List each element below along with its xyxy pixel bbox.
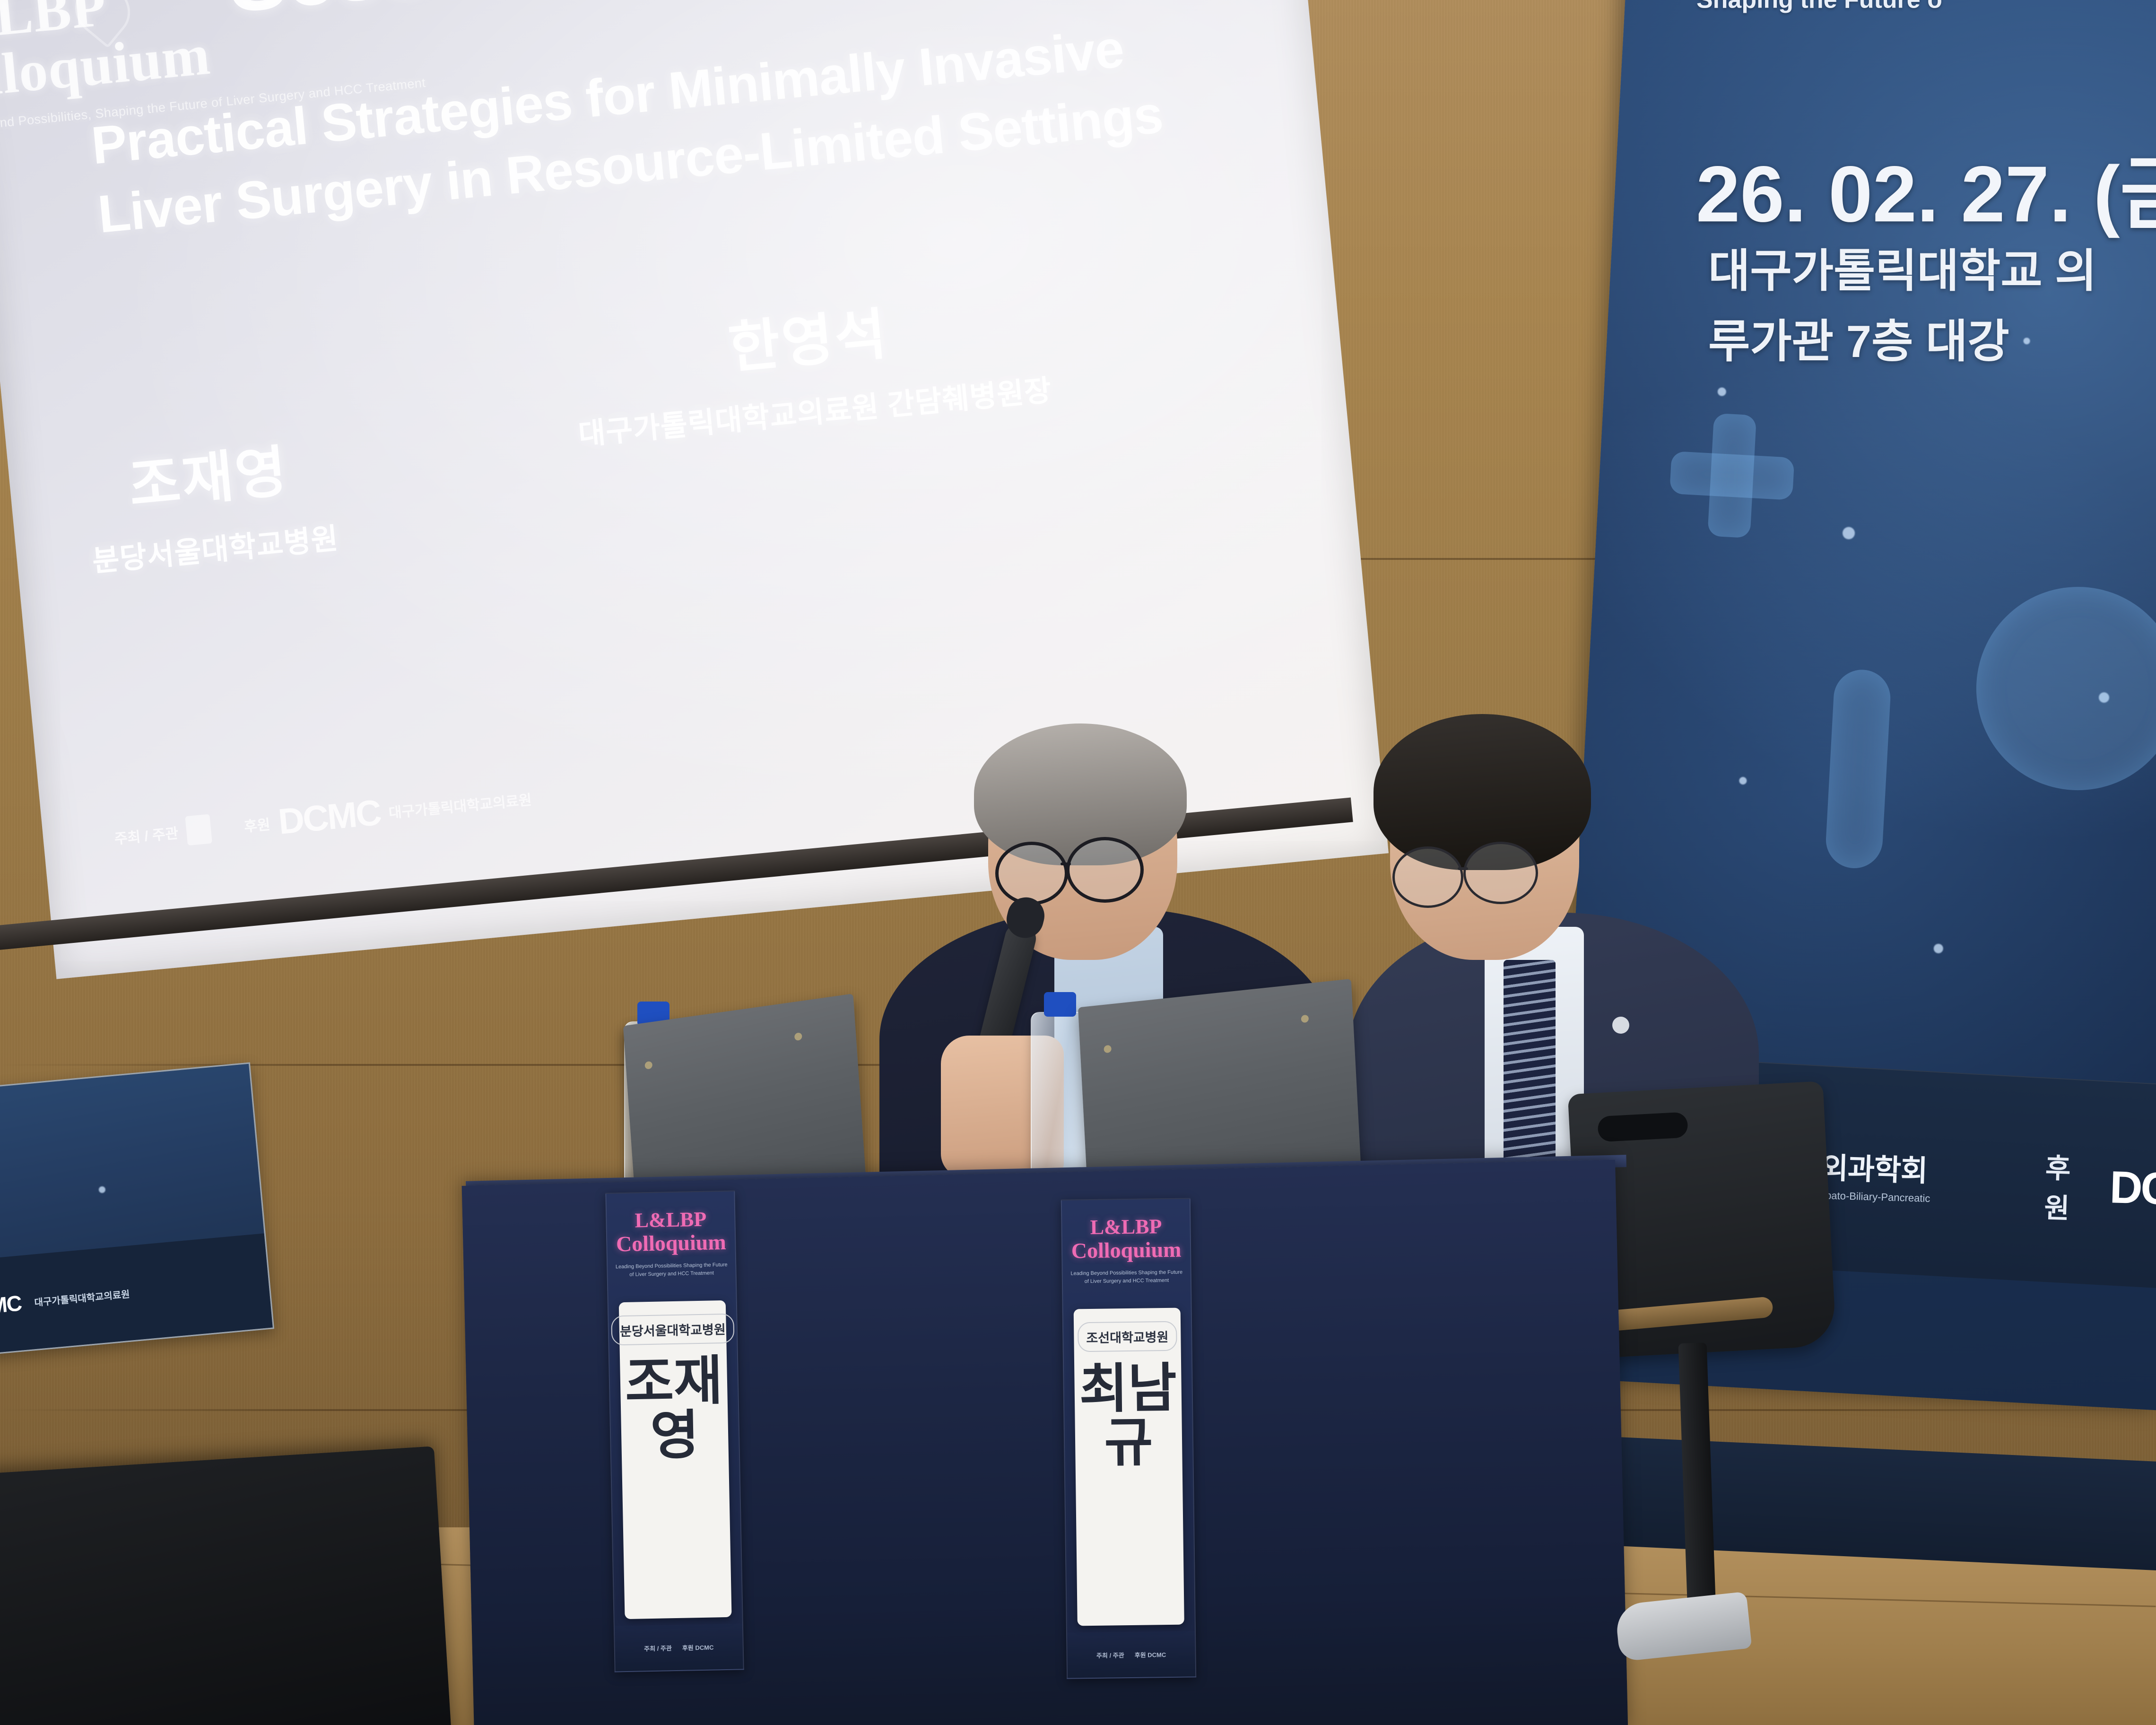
placard-2-footer: 주최 / 주관 후원 DCMC <box>1067 1631 1195 1678</box>
brain-icon <box>1971 582 2156 796</box>
syringe-icon <box>1825 668 1892 870</box>
laptop-screw <box>1104 1045 1112 1054</box>
slide-speaker-1-name: 조재영 <box>35 417 382 530</box>
placard-2-brand-subtitle: Leading Beyond Possibilities Shaping the… <box>1063 1269 1191 1286</box>
laptop-screw <box>644 1061 652 1070</box>
banner-venue-line1: 대구가톨릭대학교 의 <box>1708 236 2097 307</box>
chair-handle-slot <box>1597 1112 1688 1142</box>
placard-2-hospital: 조선대학교병원 <box>1078 1321 1177 1352</box>
placard-1-card: 분당서울대학교병원 조재영 <box>619 1300 732 1619</box>
stage-monitor <box>0 1446 454 1725</box>
slide-speaker-1: 조재영 분당서울대학교병원 <box>35 417 387 584</box>
star-dot <box>1842 527 1855 540</box>
star-dot <box>1933 943 1943 953</box>
bottle-cap <box>1044 992 1076 1017</box>
star-dot <box>1717 387 1726 396</box>
name-placard-2: L&LBP Colloquium Leading Beyond Possibil… <box>1061 1198 1196 1679</box>
glasses-icon <box>1463 842 1538 904</box>
placard-1-footer: 주최 / 주관 후원 DCMC <box>615 1623 743 1671</box>
placard-1-brand-subtitle: Leading Beyond Possibilities Shaping the… <box>608 1261 736 1279</box>
placard-2-card: 조선대학교병원 최남규 <box>1074 1308 1184 1626</box>
placard-2-brand-line1: L&LBP <box>1062 1215 1190 1239</box>
mini-banner: 후원 DCMC 대구가톨릭대학교의료원 <box>0 1062 274 1361</box>
slide-footer: 주최 / 주관 후원 DCMC 대구가톨릭대학교의료원 <box>113 778 533 858</box>
slide-host-label: 주최 / 주관 <box>113 821 179 848</box>
placard-2-brand: L&LBP Colloquium <box>1062 1199 1191 1262</box>
slide-footer-host: 주최 / 주관 <box>113 814 212 852</box>
star-dot <box>98 1186 105 1193</box>
glasses-bridge-icon <box>1061 862 1071 865</box>
placard-1-footer-sponsor: 후원 DCMC <box>682 1642 714 1652</box>
banner-sponsor-label: 후원 <box>2043 1146 2095 1227</box>
banner-sponsor-name: DC <box>2109 1161 2156 1215</box>
placard-1-footer-host: 주최 / 주관 <box>644 1643 672 1653</box>
banner-date-suffix: (금 <box>2094 149 2156 238</box>
banner-sponsor: 후원 DC <box>2043 1146 2156 1229</box>
banner-date-value: 26. 02. 27. <box>1696 149 2071 238</box>
glasses-icon <box>1066 837 1144 903</box>
banner-tagline: Shaping the Future o <box>1696 0 1942 14</box>
banner-venue: 대구가톨릭대학교 의 루가관 7층 대강 <box>1708 236 2097 377</box>
host-logo-icon <box>185 814 213 845</box>
name-placard-1: L&LBP Colloquium Leading Beyond Possibil… <box>605 1190 744 1672</box>
banner-date: 26. 02. 27. (금 <box>1696 130 2156 244</box>
lapel-pin-icon <box>1612 1017 1629 1034</box>
star-dot <box>1739 777 1747 785</box>
placard-1-brand-line1: L&LBP <box>607 1207 735 1232</box>
banner-venue-line2: 루가관 7층 대강 <box>1708 307 2097 377</box>
glasses-icon <box>1392 846 1463 908</box>
mini-banner-sponsor-name: DCMC <box>0 1290 22 1322</box>
mini-banner-sponsor-sub: 대구가톨릭대학교의료원 <box>34 1286 130 1308</box>
placard-1-brand-line2: Colloquium <box>607 1230 735 1256</box>
placard-2-name: 최남규 <box>1074 1361 1182 1471</box>
laptop-screw <box>794 1032 802 1041</box>
conference-photo-scene: L&LBP Colloquium Leading Beyond Possibil… <box>0 0 2156 1725</box>
placard-1-name: 조재영 <box>620 1354 729 1464</box>
slide-footer-sponsor: 후원 DCMC 대구가톨릭대학교의료원 <box>242 778 533 846</box>
glasses-icon <box>995 842 1068 905</box>
glasses-bridge-icon <box>1458 867 1468 870</box>
placard-2-footer-sponsor: 후원 DCMC <box>1135 1650 1166 1659</box>
cross-icon <box>1707 413 1756 538</box>
placard-1-brand: L&LBP Colloquium <box>606 1192 735 1256</box>
slide-sponsor-name: DCMC <box>277 792 382 843</box>
placard-1-hospital: 분당서울대학교병원 <box>611 1314 735 1346</box>
placard-2-footer-host: 주최 / 주관 <box>1096 1650 1124 1660</box>
slide-sponsor-sub: 대구가톨릭대학교의료원 <box>388 788 532 822</box>
slide-speaker-2: 한영석 대구가톨릭대학교의료원 간담췌병원장 <box>404 258 1217 469</box>
laptop-screw <box>1301 1015 1309 1023</box>
slide-sponsor-label: 후원 <box>243 812 271 836</box>
placard-2-brand-line2: Colloquium <box>1062 1237 1191 1263</box>
